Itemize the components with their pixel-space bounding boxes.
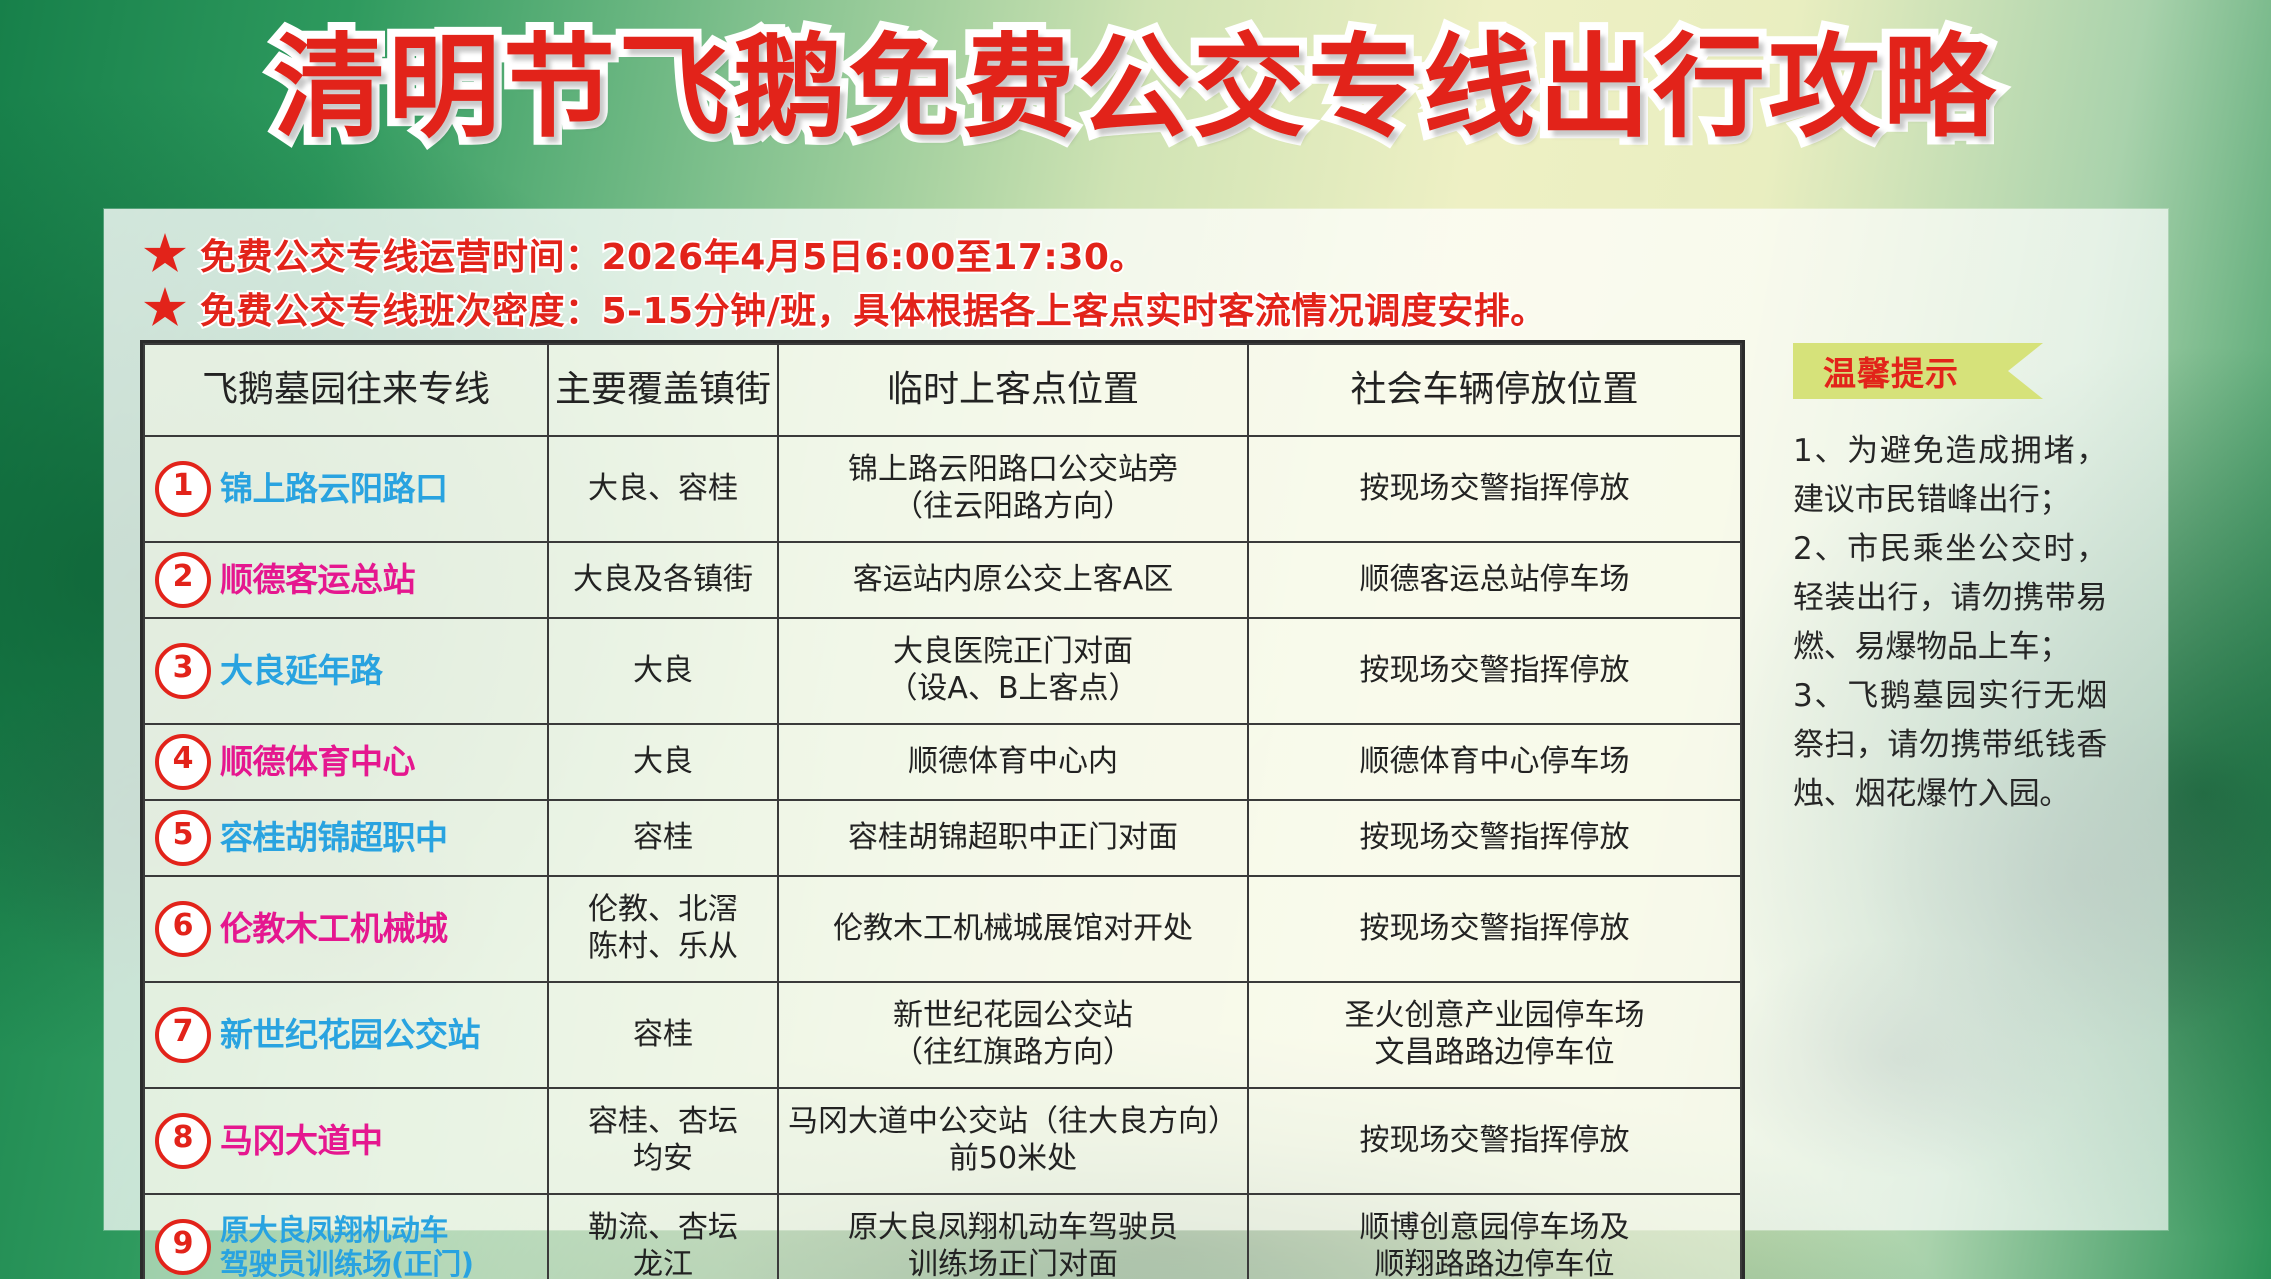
route-number-badge: 3: [155, 643, 211, 699]
cell-towns: 容桂: [548, 982, 778, 1088]
table-row: 9原大良凤翔机动车驾驶员训练场(正门)勒流、杏坛龙江原大良凤翔机动车驾驶员训练场…: [144, 1194, 1741, 1279]
cell-pickup: 顺德体育中心内: [778, 724, 1248, 800]
note-item: 免费公交专线运营时间：2026年4月5日6:00至17:30。: [144, 227, 1547, 281]
table-row: 8马冈大道中容桂、杏坛均安马冈大道中公交站（往大良方向）前50米处按现场交警指挥…: [144, 1088, 1741, 1194]
cell-parking: 顺德客运总站停车场: [1248, 542, 1741, 618]
cell-towns: 大良、容桂: [548, 436, 778, 542]
cell-pickup: 伦教木工机械城展馆对开处: [778, 876, 1248, 982]
cell-towns: 伦教、北滘陈村、乐从: [548, 876, 778, 982]
cell-route: 4顺德体育中心: [144, 724, 548, 800]
tip-item: 2、市民乘坐公交时，轻装出行，请勿携带易燃、易爆物品上车；: [1793, 525, 2107, 672]
cell-towns: 容桂: [548, 800, 778, 876]
column-header-towns: 主要覆盖镇街: [548, 344, 778, 436]
cell-route: 7新世纪花园公交站: [144, 982, 548, 1088]
star-icon: [144, 233, 186, 275]
tips-body: 1、为避免造成拥堵，建议市民错峰出行；2、市民乘坐公交时，轻装出行，请勿携带易燃…: [1793, 427, 2107, 819]
cell-towns: 大良: [548, 724, 778, 800]
route-number-badge: 4: [155, 734, 211, 790]
cell-towns: 容桂、杏坛均安: [548, 1088, 778, 1194]
tips-banner: 温馨提示: [1793, 343, 2043, 399]
routes-table: 飞鹅墓园往来专线 主要覆盖镇街 临时上客点位置 社会车辆停放位置 1锦上路云阳路…: [143, 343, 1742, 1279]
route-name: 原大良凤翔机动车驾驶员训练场(正门): [220, 1213, 474, 1279]
cell-parking: 按现场交警指挥停放: [1248, 800, 1741, 876]
table-row: 3大良延年路大良大良医院正门对面（设A、B上客点）按现场交警指挥停放: [144, 618, 1741, 724]
cell-parking: 按现场交警指挥停放: [1248, 436, 1741, 542]
cell-route: 1锦上路云阳路口: [144, 436, 548, 542]
poster-title-wrap: 清明节飞鹅免费公交专线出行攻略: [0, 26, 2271, 151]
tips-banner-label: 温馨提示: [1793, 347, 1959, 395]
table-row: 5容桂胡锦超职中容桂容桂胡锦超职中正门对面按现场交警指挥停放: [144, 800, 1741, 876]
route-number-badge: 6: [155, 901, 211, 957]
route-name: 大良延年路: [220, 652, 383, 691]
route-name: 顺德客运总站: [220, 561, 415, 600]
cell-pickup: 容桂胡锦超职中正门对面: [778, 800, 1248, 876]
route-number-badge: 8: [155, 1113, 211, 1169]
cell-pickup: 新世纪花园公交站（往红旗路方向）: [778, 982, 1248, 1088]
cell-pickup: 大良医院正门对面（设A、B上客点）: [778, 618, 1248, 724]
cell-parking: 顺博创意园停车场及顺翔路路边停车位: [1248, 1194, 1741, 1279]
cell-parking: 按现场交警指挥停放: [1248, 876, 1741, 982]
cell-parking: 按现场交警指挥停放: [1248, 618, 1741, 724]
cell-route: 8马冈大道中: [144, 1088, 548, 1194]
tip-item: 1、为避免造成拥堵，建议市民错峰出行；: [1793, 427, 2107, 525]
table-row: 6伦教木工机械城伦教、北滘陈村、乐从伦教木工机械城展馆对开处按现场交警指挥停放: [144, 876, 1741, 982]
route-name: 马冈大道中: [220, 1122, 383, 1161]
star-icon: [144, 287, 186, 329]
route-name: 锦上路云阳路口: [220, 470, 448, 509]
route-name: 伦教木工机械城: [220, 910, 448, 949]
cell-parking: 按现场交警指挥停放: [1248, 1088, 1741, 1194]
route-name: 顺德体育中心: [220, 743, 415, 782]
cell-towns: 大良: [548, 618, 778, 724]
route-number-badge: 2: [155, 552, 211, 608]
table-row: 1锦上路云阳路口大良、容桂锦上路云阳路口公交站旁（往云阳路方向）按现场交警指挥停…: [144, 436, 1741, 542]
route-name: 新世纪花园公交站: [220, 1016, 480, 1055]
column-header-route: 飞鹅墓园往来专线: [144, 344, 548, 436]
note-text: 免费公交专线运营时间：2026年4月5日6:00至17:30。: [200, 228, 1146, 280]
cell-pickup: 客运站内原公交上客A区: [778, 542, 1248, 618]
column-header-parking: 社会车辆停放位置: [1248, 344, 1741, 436]
cell-route: 6伦教木工机械城: [144, 876, 548, 982]
cell-parking: 圣火创意产业园停车场文昌路路边停车位: [1248, 982, 1741, 1088]
content-panel: 免费公交专线运营时间：2026年4月5日6:00至17:30。 免费公交专线班次…: [104, 209, 2168, 1230]
route-name: 容桂胡锦超职中: [220, 819, 448, 858]
route-number-badge: 9: [155, 1219, 211, 1275]
routes-table-body: 1锦上路云阳路口大良、容桂锦上路云阳路口公交站旁（往云阳路方向）按现场交警指挥停…: [144, 436, 1741, 1279]
poster-root: 清明节飞鹅免费公交专线出行攻略 免费公交专线运营时间：2026年4月5日6:00…: [0, 0, 2271, 1279]
poster-title: 清明节飞鹅免费公交专线出行攻略: [273, 26, 1998, 151]
table-row: 7新世纪花园公交站容桂新世纪花园公交站（往红旗路方向）圣火创意产业园停车场文昌路…: [144, 982, 1741, 1088]
column-header-pickup: 临时上客点位置: [778, 344, 1248, 436]
cell-route: 5容桂胡锦超职中: [144, 800, 548, 876]
tip-item: 3、飞鹅墓园实行无烟祭扫，请勿携带纸钱香烛、烟花爆竹入园。: [1793, 672, 2107, 819]
cell-pickup: 原大良凤翔机动车驾驶员训练场正门对面: [778, 1194, 1248, 1279]
table-row: 4顺德体育中心大良顺德体育中心内顺德体育中心停车场: [144, 724, 1741, 800]
table-header-row: 飞鹅墓园往来专线 主要覆盖镇街 临时上客点位置 社会车辆停放位置: [144, 344, 1741, 436]
cell-route: 3大良延年路: [144, 618, 548, 724]
table-row: 2顺德客运总站大良及各镇街客运站内原公交上客A区顺德客运总站停车场: [144, 542, 1741, 618]
cell-pickup: 锦上路云阳路口公交站旁（往云阳路方向）: [778, 436, 1248, 542]
notes-list: 免费公交专线运营时间：2026年4月5日6:00至17:30。 免费公交专线班次…: [144, 227, 1547, 335]
cell-towns: 勒流、杏坛龙江: [548, 1194, 778, 1279]
cell-route: 2顺德客运总站: [144, 542, 548, 618]
cell-towns: 大良及各镇街: [548, 542, 778, 618]
route-number-badge: 5: [155, 810, 211, 866]
tips-panel: 温馨提示 1、为避免造成拥堵，建议市民错峰出行；2、市民乘坐公交时，轻装出行，请…: [1793, 343, 2123, 819]
route-number-badge: 7: [155, 1007, 211, 1063]
cell-parking: 顺德体育中心停车场: [1248, 724, 1741, 800]
cell-route: 9原大良凤翔机动车驾驶员训练场(正门): [144, 1194, 548, 1279]
note-item: 免费公交专线班次密度：5-15分钟/班，具体根据各上客点实时客流情况调度安排。: [144, 281, 1547, 335]
cell-pickup: 马冈大道中公交站（往大良方向）前50米处: [778, 1088, 1248, 1194]
route-number-badge: 1: [155, 461, 211, 517]
note-text: 免费公交专线班次密度：5-15分钟/班，具体根据各上客点实时客流情况调度安排。: [200, 282, 1547, 334]
